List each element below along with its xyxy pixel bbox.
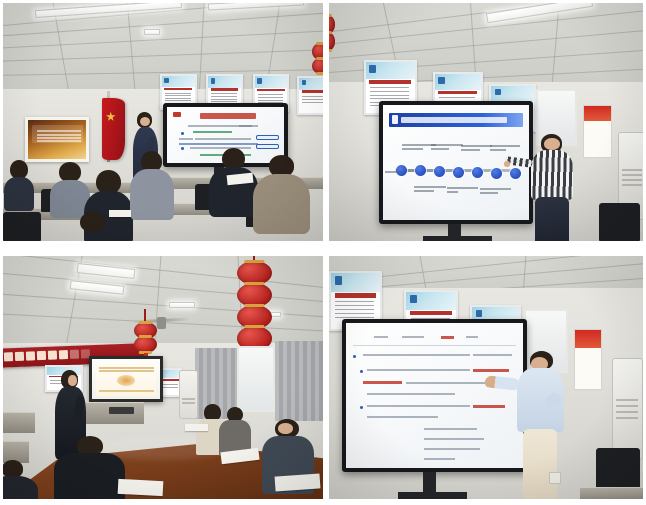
timeline-label <box>480 188 514 196</box>
office-chair <box>599 203 640 241</box>
red-notice-frame <box>583 105 611 157</box>
ceiling <box>3 256 323 353</box>
projected-slide <box>96 361 156 396</box>
participant <box>54 436 124 499</box>
conference-scene-bottom-left <box>3 256 323 499</box>
slide-badge-icon <box>173 112 181 117</box>
slide-header-bar <box>389 113 523 127</box>
ceiling-light <box>169 302 195 308</box>
display-stand-foot <box>423 236 492 241</box>
notebook <box>275 473 321 491</box>
ceiling-fan-hub <box>157 317 167 329</box>
photo-collage <box>0 0 646 505</box>
slide-logo-icon <box>392 115 399 124</box>
notebook <box>118 478 163 495</box>
presenter <box>530 134 574 241</box>
red-notice-frame <box>574 329 602 390</box>
timeline-label <box>490 145 524 153</box>
slide-screen <box>346 323 523 468</box>
classroom-scene-bottom-right <box>329 256 643 499</box>
student <box>6 160 32 208</box>
wall-art-panel <box>25 117 89 162</box>
curtain <box>275 341 323 421</box>
timeline-label <box>414 186 448 194</box>
window <box>237 346 275 412</box>
podium-equipment <box>109 407 135 414</box>
notebook <box>185 424 207 431</box>
striped-top <box>531 150 573 199</box>
timeline-node-2[interactable] <box>415 165 426 176</box>
projector-screen[interactable] <box>89 356 163 402</box>
chair <box>3 212 41 241</box>
timeline-node-5[interactable] <box>472 167 483 178</box>
classroom-scene-top-right <box>329 3 643 241</box>
red-party-flag <box>102 98 124 160</box>
desk <box>580 487 643 499</box>
photo-top-right[interactable] <box>329 3 643 241</box>
student <box>134 151 169 218</box>
handout <box>109 210 131 217</box>
side-cabinet <box>3 412 35 434</box>
projected-image <box>117 375 135 386</box>
timeline-node-6[interactable] <box>491 168 502 179</box>
timeline-node-7[interactable] <box>510 168 521 179</box>
photo-top-left[interactable] <box>3 3 323 241</box>
slide-callout <box>256 144 279 149</box>
timeline-node-3[interactable] <box>434 166 445 177</box>
air-purifier <box>179 370 198 419</box>
display-stand-foot <box>398 492 467 499</box>
classroom-scene-top-left <box>3 3 323 241</box>
slide-callout <box>256 135 279 140</box>
student <box>54 162 86 214</box>
office-chair <box>596 448 640 492</box>
party-emblem <box>106 112 116 122</box>
timeline-node-4[interactable] <box>453 167 464 178</box>
photo-bottom-right[interactable] <box>329 256 643 499</box>
student <box>259 155 304 231</box>
air-conditioner <box>612 358 643 460</box>
red-lantern <box>134 336 156 353</box>
skirt <box>535 197 568 241</box>
framed-wall-poster <box>297 76 323 115</box>
participant <box>221 407 250 456</box>
power-outlet <box>549 472 562 484</box>
slide-title <box>200 113 256 119</box>
led-display[interactable] <box>342 319 527 472</box>
photo-bottom-left[interactable] <box>3 256 323 499</box>
timeline-label <box>447 187 481 195</box>
participant <box>3 460 35 499</box>
trousers <box>523 429 557 499</box>
ceiling-light <box>144 29 160 35</box>
timeline-axis-label <box>385 171 401 175</box>
